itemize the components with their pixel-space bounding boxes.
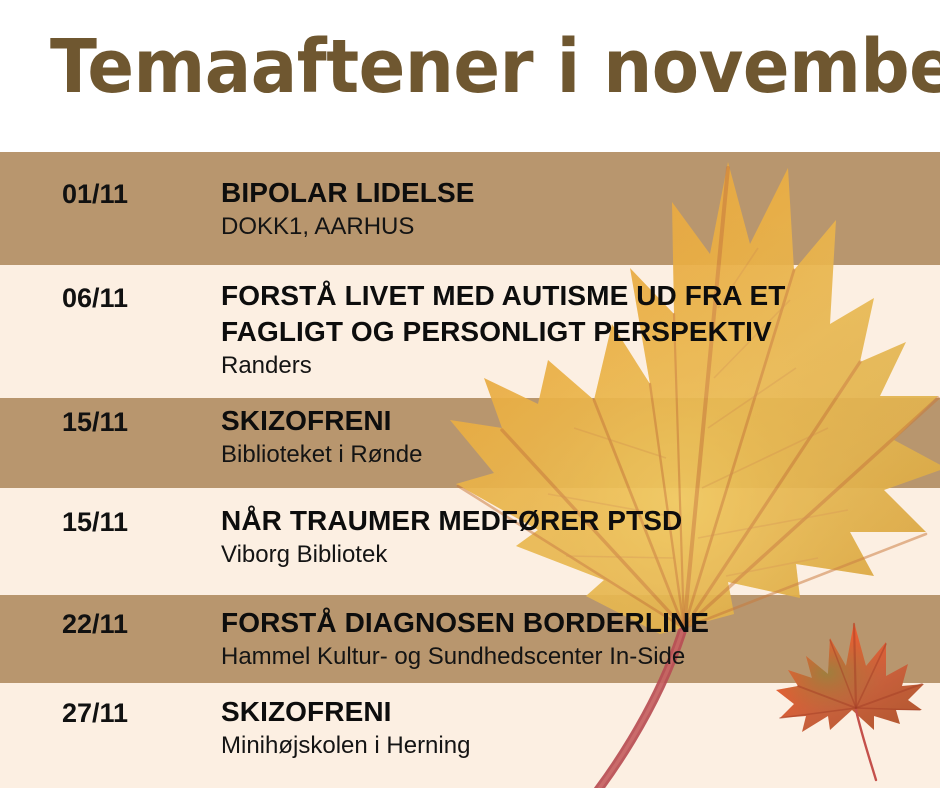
event-body: NÅR TRAUMER MEDFØRER PTSD Viborg Bibliot… [221, 503, 930, 570]
event-venue: Viborg Bibliotek [221, 541, 387, 568]
event-body: FORSTÅ DIAGNOSEN BORDERLINE Hammel Kultu… [221, 605, 930, 672]
event-schedule-poster: Temaaftener i november 01/11 BIPOLAR LID… [0, 0, 940, 788]
event-title: FORSTÅ LIVET MED AUTISME UD FRA ET FAGLI… [221, 280, 785, 347]
page-title: Temaaftener i november [50, 23, 850, 111]
event-body: SKIZOFRENI Minihøjskolen i Herning [221, 694, 930, 761]
event-date: 27/11 [62, 697, 128, 729]
event-body: BIPOLAR LIDELSE DOKK1, AARHUS [221, 175, 930, 242]
event-venue: Minihøjskolen i Herning [221, 732, 470, 759]
event-date: 22/11 [62, 608, 128, 640]
event-date: 15/11 [62, 506, 128, 538]
event-title: SKIZOFRENI [221, 696, 392, 727]
event-venue: Randers [221, 352, 312, 379]
event-date: 15/11 [62, 406, 128, 438]
event-venue: Biblioteket i Rønde [221, 441, 422, 468]
event-date: 06/11 [62, 282, 128, 314]
title-area: Temaaftener i november [0, 0, 940, 152]
event-title: BIPOLAR LIDELSE [221, 177, 475, 208]
event-title: NÅR TRAUMER MEDFØRER PTSD [221, 505, 682, 536]
event-body: SKIZOFRENI Biblioteket i Rønde [221, 403, 930, 470]
event-body: FORSTÅ LIVET MED AUTISME UD FRA ET FAGLI… [221, 278, 930, 381]
event-venue: DOKK1, AARHUS [221, 213, 414, 240]
event-date: 01/11 [62, 178, 128, 210]
event-venue: Hammel Kultur- og Sundhedscenter In-Side [221, 643, 685, 670]
event-title: FORSTÅ DIAGNOSEN BORDERLINE [221, 607, 709, 638]
event-title: SKIZOFRENI [221, 405, 392, 436]
